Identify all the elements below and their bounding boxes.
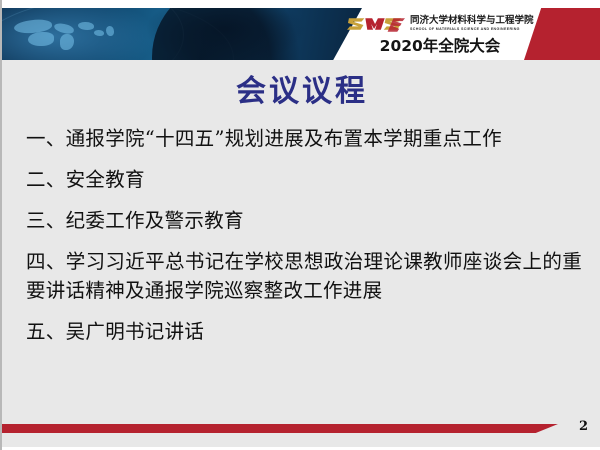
- map-landmass-icon: [94, 30, 104, 36]
- map-landmass-icon: [78, 22, 94, 30]
- agenda-item: 二、安全教育: [26, 165, 582, 194]
- world-map-banner-graphic: [2, 8, 362, 60]
- presentation-slide: 同济大学材料科学与工程学院 SCHOOL OF MATERIALS SCIENC…: [0, 0, 600, 450]
- agenda-list: 一、通报学院“十四五”规划进展及布置本学期重点工作 二、安全教育 三、纪委工作及…: [26, 124, 582, 358]
- footer-accent-bar: [2, 424, 558, 433]
- page-number: 2: [579, 419, 588, 434]
- school-logo-block: 同济大学材料科学与工程学院 SCHOOL OF MATERIALS SCIENC…: [347, 14, 542, 34]
- meeting-title: 2020年全院大会: [347, 34, 533, 56]
- page-title: 会议议程: [2, 66, 600, 110]
- school-name-en: SCHOOL OF MATERIALS SCIENCE AND ENGINEER…: [410, 27, 534, 31]
- slide-top-margin: [2, 0, 600, 8]
- slide-header: 同济大学材料科学与工程学院 SCHOOL OF MATERIALS SCIENC…: [2, 8, 600, 60]
- school-name-cn: 同济大学材料科学与工程学院: [410, 15, 534, 26]
- agenda-item: 五、吴广明书记讲话: [26, 317, 582, 346]
- agenda-item: 四、学习习近平总书记在学校思想政治理论课教师座谈会上的重要讲话精神及通报学院巡察…: [26, 247, 582, 305]
- agenda-item: 一、通报学院“十四五”规划进展及布置本学期重点工作: [26, 124, 582, 153]
- school-name-group: 同济大学材料科学与工程学院 SCHOOL OF MATERIALS SCIENC…: [410, 14, 534, 31]
- agenda-item: 三、纪委工作及警示教育: [26, 206, 582, 235]
- map-landmass-icon: [28, 32, 54, 46]
- smse-logo-icon: [347, 14, 405, 34]
- map-landmass-icon: [106, 26, 114, 36]
